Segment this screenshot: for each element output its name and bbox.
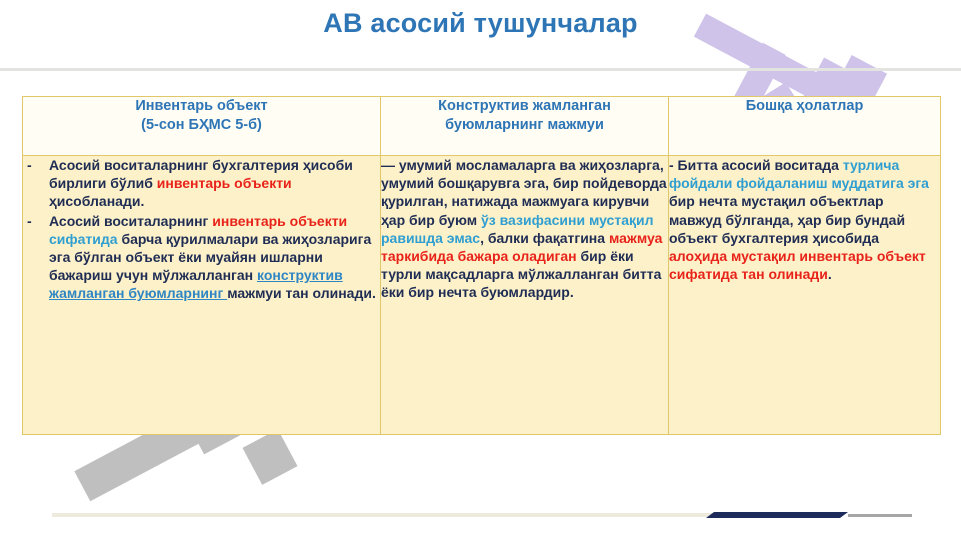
- table-row: -Асосий воситаларнинг бухгалтерия ҳисоби…: [23, 156, 941, 435]
- text-run-navy: - Битта асосий воситада: [669, 157, 843, 173]
- text-run-navy: , балки фақатгина: [480, 230, 609, 246]
- list-item-text: Асосий воситаларнинг бухгалтерия ҳисоби …: [49, 157, 353, 209]
- table-header: Инвентарь объект (5-сон БҲМС 5-б) Констр…: [23, 97, 941, 156]
- text-run-red: инвентарь объекти: [157, 175, 292, 191]
- table-header-row: Инвентарь объект (5-сон БҲМС 5-б) Констр…: [23, 97, 941, 156]
- dash-bullet-icon: -: [27, 156, 32, 174]
- cell-other-cases: - Битта асосий воситада турлича фойдали …: [669, 156, 941, 435]
- footer-decorative-bar: [0, 512, 961, 518]
- cell-paragraph: - Битта асосий воситада турлича фойдали …: [669, 156, 940, 283]
- concepts-table: Инвентарь объект (5-сон БҲМС 5-б) Констр…: [22, 96, 941, 435]
- gray-watermark-shape: [242, 429, 297, 485]
- text-run-navy: ҳисобланади.: [49, 193, 144, 209]
- text-run-red: алоҳида мустақил инвентарь объект сифати…: [669, 248, 926, 282]
- footer-bar-cream-segment: [52, 513, 712, 517]
- footer-bar-navy-segment: [706, 512, 848, 518]
- cell-inventory-object: -Асосий воситаларнинг бухгалтерия ҳисоби…: [23, 156, 381, 435]
- list-item: -Асосий воситаларнинг бухгалтерия ҳисоби…: [23, 156, 380, 211]
- column-header-constructive-assembly: Конструктив жамланган буюмларнинг мажмуи: [381, 97, 669, 156]
- table-body: -Асосий воситаларнинг бухгалтерия ҳисоби…: [23, 156, 941, 435]
- column-header-other-cases: Бошқа ҳолатлар: [669, 97, 941, 156]
- cell-constructive-assembly: — умумий мосламаларга ва жиҳозларга, уму…: [381, 156, 669, 435]
- header-line-2: буюмларнинг мажмуи: [445, 117, 604, 133]
- header-line-1: Инвентарь объект: [135, 98, 267, 114]
- footer-bar-gray-segment: [848, 514, 912, 517]
- column-header-inventory-object: Инвентарь объект (5-сон БҲМС 5-б): [23, 97, 381, 156]
- dash-bullet-icon: -: [27, 212, 32, 230]
- text-run-navy: бир нечта мустақил объектлар мавжуд бўлг…: [669, 193, 905, 245]
- text-run-navy: Асосий воситаларнинг: [49, 213, 212, 229]
- text-run-blue: сифатида: [49, 231, 118, 247]
- content-table-wrapper: Инвентарь объект (5-сон БҲМС 5-б) Констр…: [22, 96, 937, 435]
- header-line-2: (5-сон БҲМС 5-б): [141, 117, 262, 133]
- text-run-navy: мажмуи тан олинади.: [227, 285, 376, 301]
- slide-title: АВ асосий тушунчалар: [0, 8, 961, 39]
- text-run-navy: .: [828, 266, 832, 282]
- list-item-text: Асосий воситаларнинг инвентарь объекти с…: [49, 213, 376, 302]
- text-run-red: инвентарь объекти: [212, 213, 347, 229]
- dash-list: -Асосий воситаларнинг бухгалтерия ҳисоби…: [23, 156, 380, 303]
- cell-paragraph: — умумий мосламаларга ва жиҳозларга, уму…: [381, 156, 668, 302]
- list-item: -Асосий воситаларнинг инвентарь объекти …: [23, 212, 380, 303]
- title-divider: [0, 68, 961, 71]
- header-line-1: Бошқа ҳолатлар: [746, 98, 864, 114]
- header-line-1: Конструктив жамланган: [438, 98, 611, 114]
